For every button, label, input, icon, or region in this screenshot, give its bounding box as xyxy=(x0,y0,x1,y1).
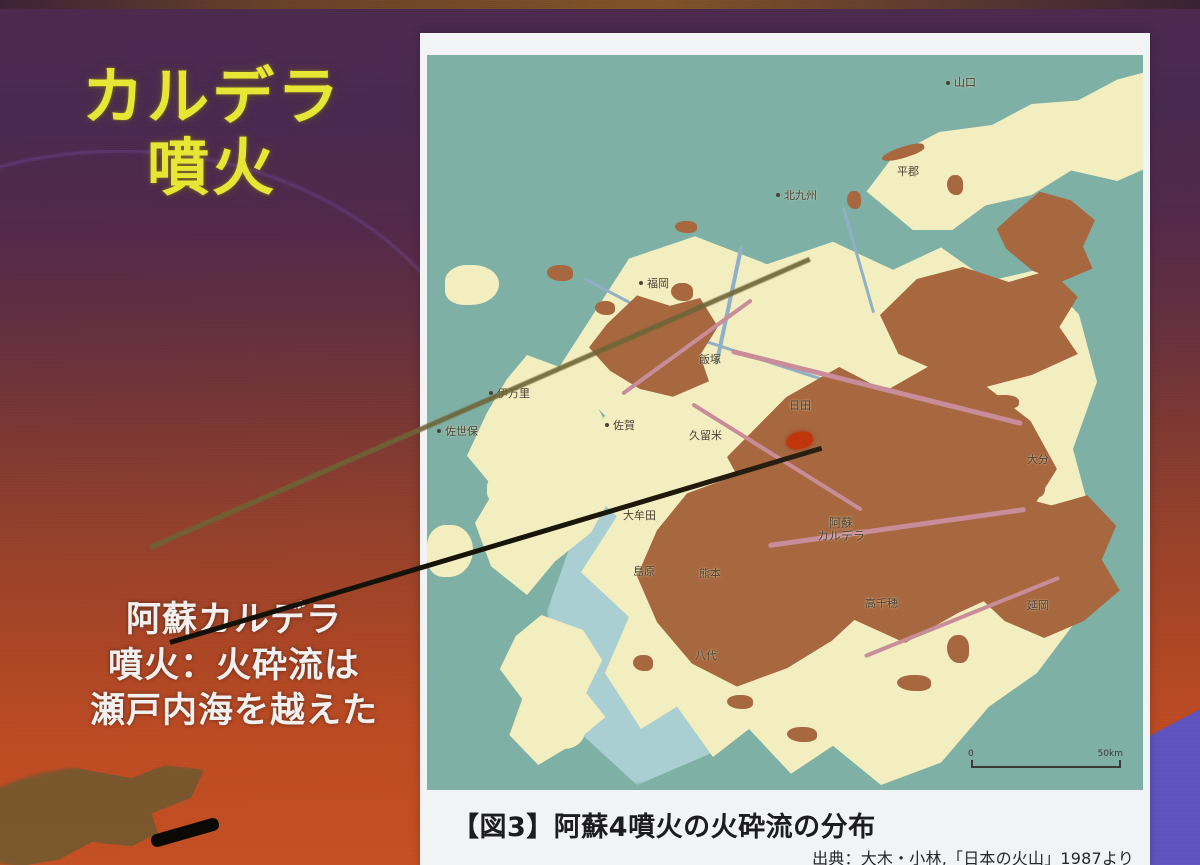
slide-note: 阿蘇カルデラ 噴火：火砕流は 瀬戸内海を越えた xyxy=(44,598,424,735)
map-label-fukuoka: 福岡 xyxy=(647,275,669,291)
map-label-yamaguchi: 山口 xyxy=(954,74,976,90)
scale-label-start: 0 xyxy=(968,749,974,759)
map-dot-fukuoka xyxy=(639,281,643,285)
figure-panel: 阿蘇 カルデラ 山口 平郡 北九州 福岡 飯塚 日田 伊万里 佐世保 佐賀 久留… xyxy=(420,33,1150,865)
slide-note-line-3: 瀬戸内海を越えた xyxy=(44,689,424,735)
map-dot-sasebo xyxy=(437,429,441,433)
scale-tick-start xyxy=(971,760,973,768)
flow-patch xyxy=(633,655,653,671)
map-label-yatsushiro: 八代 xyxy=(695,647,717,663)
flow-patch xyxy=(947,635,969,663)
flow-patch xyxy=(547,265,573,281)
flow-patch xyxy=(987,535,1009,561)
flow-patch xyxy=(787,727,817,742)
figure-caption: 【図3】阿蘇4噴火の火砕流の分布 xyxy=(452,805,1112,844)
slide-title-line-2: 噴火 xyxy=(42,133,382,204)
map-label-heigun: 平郡 xyxy=(897,163,919,179)
slide-title: カルデラ 噴火 xyxy=(42,62,382,203)
map-dot-saga xyxy=(605,423,609,427)
map-label-iizuka: 飯塚 xyxy=(699,351,721,367)
flow-patch xyxy=(947,175,963,195)
map-label-kitakyushu: 北九州 xyxy=(784,187,817,203)
figure-source: 出典：大木・小林,「日本の火山」1987より xyxy=(812,845,1134,865)
map-label-nobeoka: 延岡 xyxy=(1027,597,1049,613)
map-label-omuta: 大牟田 xyxy=(623,507,656,523)
map-label-hita: 日田 xyxy=(789,397,811,413)
flow-patch xyxy=(671,283,693,301)
flow-patch xyxy=(1027,355,1051,367)
flow-patch xyxy=(675,221,697,233)
top-light-strip xyxy=(0,0,1200,9)
flow-patch xyxy=(987,395,1019,409)
slide-photo: カルデラ 噴火 阿蘇カルデラ 噴火：火砕流は 瀬戸内海を越えた xyxy=(0,0,1200,865)
map-figure: 阿蘇 カルデラ 山口 平郡 北九州 福岡 飯塚 日田 伊万里 佐世保 佐賀 久留… xyxy=(427,55,1143,790)
map-label-sasebo: 佐世保 xyxy=(445,423,478,439)
map-label-kurume: 久留米 xyxy=(689,427,722,443)
map-label-saga: 佐賀 xyxy=(613,417,635,433)
scale-tick-end xyxy=(1119,760,1121,768)
flow-patch xyxy=(1027,475,1045,497)
map-label-shimabara: 島原 xyxy=(633,563,655,579)
map-label-aso-caldera: 阿蘇 カルデラ xyxy=(817,517,865,542)
map-label-aso-caldera-line-2: カルデラ xyxy=(817,530,865,543)
map-label-takachiho: 高千穂 xyxy=(865,595,898,611)
scale-label-end: 50km xyxy=(1098,749,1123,759)
slide-note-line-2: 噴火：火砕流は xyxy=(44,644,424,690)
map-label-aso-caldera-line-1: 阿蘇 xyxy=(817,517,865,530)
map-dot-kitakyushu xyxy=(776,193,780,197)
map-label-oita: 大分 xyxy=(1027,451,1049,467)
map-label-kumamoto: 熊本 xyxy=(699,565,721,581)
slide-title-line-1: カルデラ xyxy=(42,62,382,133)
scale-bar-line xyxy=(971,766,1121,768)
flow-patch xyxy=(897,675,931,691)
map-scale-bar: 0 50km xyxy=(971,766,1121,768)
flow-patch xyxy=(595,301,615,315)
map-dot-yamaguchi xyxy=(946,81,950,85)
flow-patch xyxy=(727,695,753,709)
flow-patch xyxy=(847,191,861,209)
